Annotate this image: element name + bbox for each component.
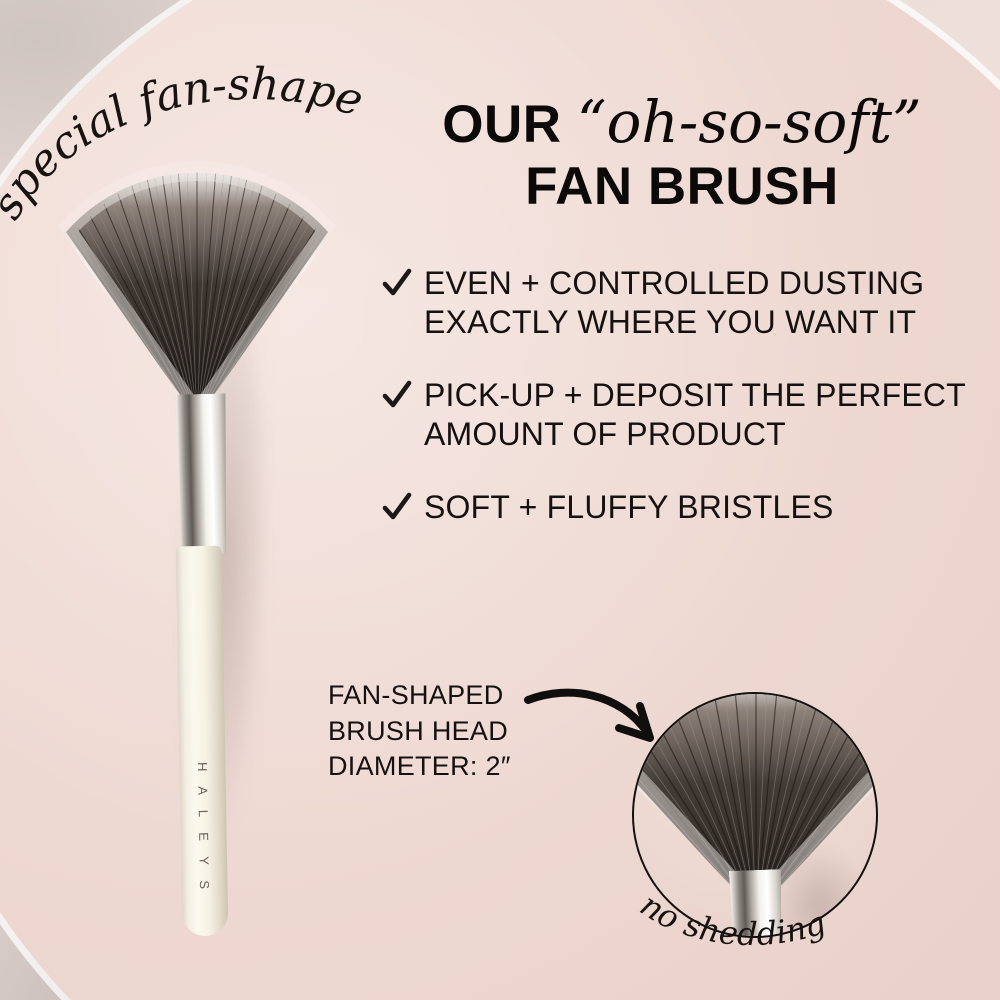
brush-handle: H A L E Y S xyxy=(176,546,229,937)
check-icon xyxy=(382,378,412,412)
brand-logo-text: H A L E Y S xyxy=(195,762,212,895)
benefit-list: EVEN + CONTROLLED DUSTING EXACTLY WHERE … xyxy=(382,264,982,527)
ferrule-metal xyxy=(171,393,233,554)
list-item: SOFT + FLUFFY BRISTLES xyxy=(382,488,982,527)
list-item: PICK-UP + DEPOSIT THE PERFECT AMOUNT OF … xyxy=(382,376,982,454)
arc-label-no-shedding-text: no shedding xyxy=(633,886,830,954)
brush-head-fan xyxy=(52,130,342,430)
headline-line1-plain: OUR xyxy=(442,95,561,154)
arc-label-no-shedding: no shedding xyxy=(612,886,912,976)
product-marketing-image: special fan-shape xyxy=(0,0,1000,1000)
callout-text: FAN-SHAPED BRUSH HEAD DIAMETER: 2″ xyxy=(328,678,511,785)
list-item-label: EVEN + CONTROLLED DUSTING EXACTLY WHERE … xyxy=(424,264,982,342)
check-icon xyxy=(382,490,412,524)
list-item-label: SOFT + FLUFFY BRISTLES xyxy=(424,488,834,527)
check-icon xyxy=(382,266,412,300)
brush-ferrule xyxy=(171,393,233,554)
callout-line-2: BRUSH HEAD xyxy=(328,714,511,750)
list-item: EVEN + CONTROLLED DUSTING EXACTLY WHERE … xyxy=(382,264,982,342)
callout-line-3: DIAMETER: 2″ xyxy=(328,749,511,785)
headline-line2: FAN BRUSH xyxy=(382,159,982,215)
fan-brush-product: H A L E Y S xyxy=(40,130,360,940)
headline-line1-quoted: “oh-so-soft” xyxy=(577,88,922,156)
page-title: OUR “oh-so-soft” FAN BRUSH xyxy=(382,92,982,216)
list-item-label: PICK-UP + DEPOSIT THE PERFECT AMOUNT OF … xyxy=(424,376,982,454)
copy-block: OUR “oh-so-soft” FAN BRUSH EVEN + CONTRO… xyxy=(382,92,982,561)
callout-line-1: FAN-SHAPED xyxy=(328,678,511,714)
